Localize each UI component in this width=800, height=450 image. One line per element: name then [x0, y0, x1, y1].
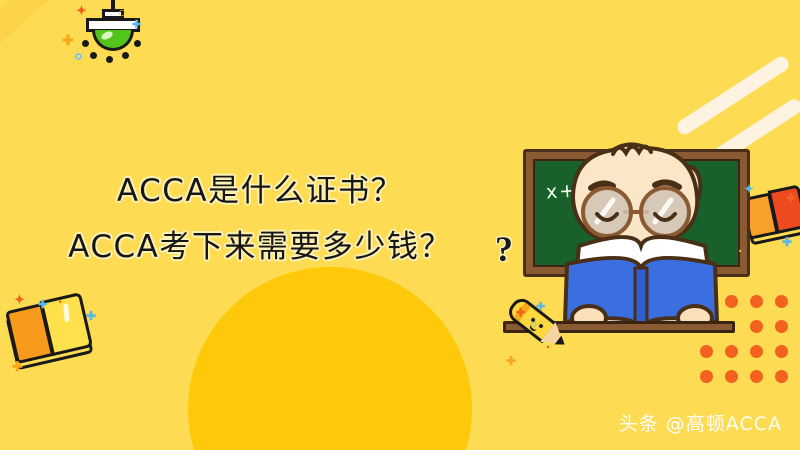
sparkle-icon: · [58, 295, 63, 311]
sparkle-icon: · [738, 244, 743, 259]
sparkle-icon: ○ [118, 5, 126, 19]
lamp-bulb [92, 30, 134, 51]
headline-line-1: ACCA是什么证书？ [0, 163, 520, 219]
sparkle-icon: ✚ [506, 355, 516, 367]
sparkle-icon: ✦ [744, 183, 754, 195]
sparkle-icon: ✦ [76, 4, 87, 17]
watermark: 头条 @高顿ACCA [619, 409, 782, 436]
sparkle-icon: ✚ [782, 236, 792, 248]
sparkle-icon: ✚ [86, 310, 96, 322]
sparkle-icon: ✦ [14, 293, 25, 306]
page-title: ACCA是什么证书？ ACCA考下来需要多少钱？ [0, 163, 520, 275]
poster-canvas: ? x+y [0, 0, 800, 450]
sparkle-icon: ✚ [38, 300, 47, 311]
sparkle-icon: ✚ [536, 302, 545, 313]
sparkle-icon: ✚ [786, 192, 796, 204]
sparkle-icon: ✚ [12, 360, 23, 373]
accent-circle [188, 267, 472, 450]
sparkle-icon: ✚ [132, 20, 141, 31]
sparkle-icon: ✚ [62, 33, 74, 47]
sparkle-icon: ✚ [516, 308, 525, 319]
sparkle-icon: · [546, 340, 551, 355]
headline-line-2: ACCA考下来需要多少钱？ [0, 219, 520, 275]
reading-bear-illustration [555, 142, 735, 330]
sparkle-icon: ○ [530, 318, 537, 330]
